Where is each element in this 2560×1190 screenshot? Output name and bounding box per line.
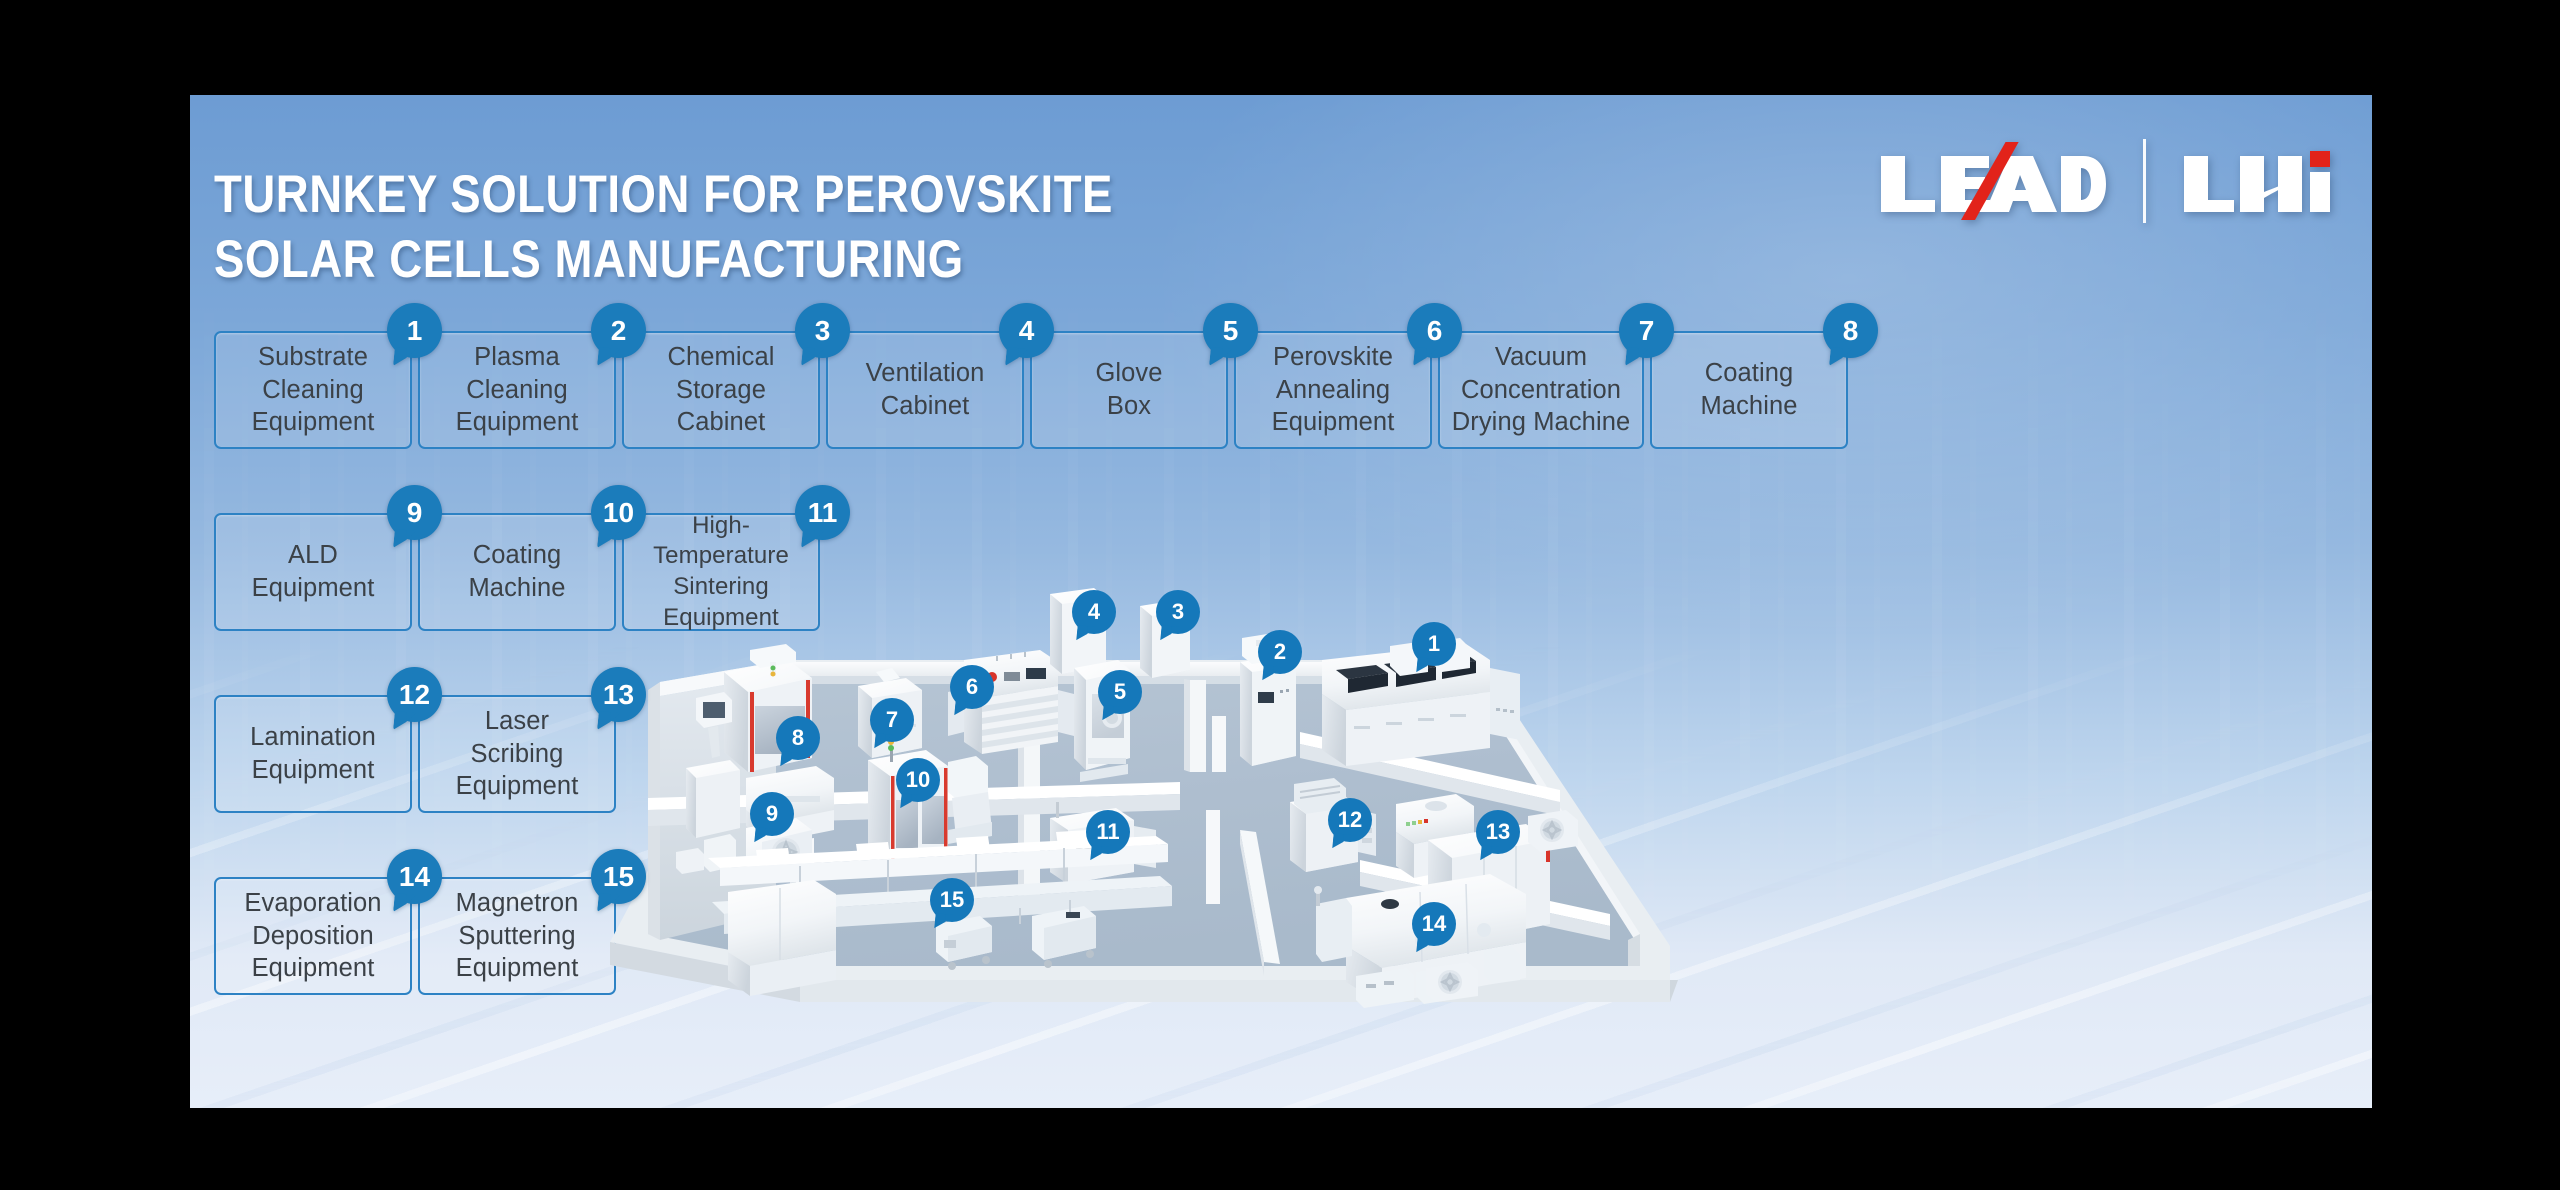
equipment-card-12[interactable]: Lamination Equipment — [214, 695, 412, 813]
lhi-logo-icon — [2182, 142, 2332, 220]
equipment-card-label: Evaporation Deposition Equipment — [244, 887, 381, 985]
equipment-card-label: Perovskite Annealing Equipment — [1272, 341, 1395, 439]
floorplan-marker-12[interactable]: 12 — [1328, 798, 1372, 842]
equipment-badge-4[interactable]: 4 — [999, 303, 1054, 358]
equipment-card-7[interactable]: Vacuum Concentration Drying Machine — [1438, 331, 1644, 449]
equipment-card-2[interactable]: Plasma Cleaning Equipment — [418, 331, 616, 449]
equipment-card-label: Coating Machine — [468, 539, 565, 604]
lead-logo-icon — [1877, 142, 2107, 220]
page-title: TURNKEY SOLUTION FOR PEROVSKITE SOLAR CE… — [214, 163, 1113, 292]
equipment-badge-14[interactable]: 14 — [387, 849, 442, 904]
floorplan-marker-2[interactable]: 2 — [1258, 630, 1302, 674]
equipment-badge-1[interactable]: 1 — [387, 303, 442, 358]
equipment-card-14[interactable]: Evaporation Deposition Equipment — [214, 877, 412, 995]
logo-divider — [2143, 139, 2146, 223]
equipment-card-10[interactable]: Coating Machine — [418, 513, 616, 631]
equipment-badge-15[interactable]: 15 — [591, 849, 646, 904]
equipment-badge-9[interactable]: 9 — [387, 485, 442, 540]
factory-floorplan: 8 7 6 4 3 5 2 1 9 10 11 12 13 14 15 — [600, 510, 1680, 1010]
equipment-card-9[interactable]: ALD Equipment — [214, 513, 412, 631]
equipment-badge-13[interactable]: 13 — [591, 667, 646, 722]
floorplan-marker-14[interactable]: 14 — [1412, 902, 1456, 946]
equipment-card-label: Vacuum Concentration Drying Machine — [1452, 341, 1631, 439]
floorplan-marker-9[interactable]: 9 — [750, 792, 794, 836]
equipment-badge-10[interactable]: 10 — [591, 485, 646, 540]
floorplan-marker-8[interactable]: 8 — [776, 716, 820, 760]
equipment-card-label: Magnetron Sputtering Equipment — [456, 887, 579, 985]
equipment-card-8[interactable]: Coating Machine — [1650, 331, 1848, 449]
floorplan-marker-10[interactable]: 10 — [896, 758, 940, 802]
title-line-1: TURNKEY SOLUTION FOR PEROVSKITE — [214, 165, 1113, 224]
floorplan-illustration — [600, 510, 1680, 1010]
floorplan-marker-5[interactable]: 5 — [1098, 670, 1142, 714]
equipment-card-label: Plasma Cleaning Equipment — [456, 341, 579, 439]
equipment-card-5[interactable]: Glove Box — [1030, 331, 1228, 449]
equipment-card-13[interactable]: Laser Scribing Equipment — [418, 695, 616, 813]
floorplan-marker-4[interactable]: 4 — [1072, 590, 1116, 634]
floorplan-marker-1[interactable]: 1 — [1412, 622, 1456, 666]
equipment-card-15[interactable]: Magnetron Sputtering Equipment — [418, 877, 616, 995]
floorplan-marker-15[interactable]: 15 — [930, 878, 974, 922]
equipment-badge-7[interactable]: 7 — [1619, 303, 1674, 358]
equipment-card-label: Ventilation Cabinet — [866, 357, 985, 422]
equipment-badge-3[interactable]: 3 — [795, 303, 850, 358]
equipment-badge-12[interactable]: 12 — [387, 667, 442, 722]
title-line-2: SOLAR CELLS MANUFACTURING — [214, 230, 964, 289]
equipment-card-label: Laser Scribing Equipment — [456, 705, 579, 803]
floorplan-marker-11[interactable]: 11 — [1086, 810, 1130, 854]
logo-group — [1877, 139, 2332, 223]
equipment-card-label: Chemical Storage Cabinet — [667, 341, 774, 439]
equipment-card-label: ALD Equipment — [252, 539, 375, 604]
floorplan-marker-6[interactable]: 6 — [950, 665, 994, 709]
equipment-card-label: Glove Box — [1095, 357, 1162, 422]
equipment-card-3[interactable]: Chemical Storage Cabinet — [622, 331, 820, 449]
equipment-card-4[interactable]: Ventilation Cabinet — [826, 331, 1024, 449]
equipment-card-1[interactable]: Substrate Cleaning Equipment — [214, 331, 412, 449]
equipment-card-6[interactable]: Perovskite Annealing Equipment — [1234, 331, 1432, 449]
equipment-badge-6[interactable]: 6 — [1407, 303, 1462, 358]
equipment-card-label: Lamination Equipment — [250, 721, 376, 786]
equipment-card-label: Coating Machine — [1700, 357, 1797, 422]
equipment-badge-2[interactable]: 2 — [591, 303, 646, 358]
equipment-card-label: Substrate Cleaning Equipment — [252, 341, 375, 439]
floorplan-marker-3[interactable]: 3 — [1156, 590, 1200, 634]
poster-canvas: TURNKEY SOLUTION FOR PEROVSKITE SOLAR CE… — [190, 95, 2372, 1108]
equipment-badge-11[interactable]: 11 — [795, 485, 850, 540]
equipment-badge-8[interactable]: 8 — [1823, 303, 1878, 358]
floorplan-marker-13[interactable]: 13 — [1476, 810, 1520, 854]
floorplan-marker-7[interactable]: 7 — [870, 698, 914, 742]
equipment-badge-5[interactable]: 5 — [1203, 303, 1258, 358]
